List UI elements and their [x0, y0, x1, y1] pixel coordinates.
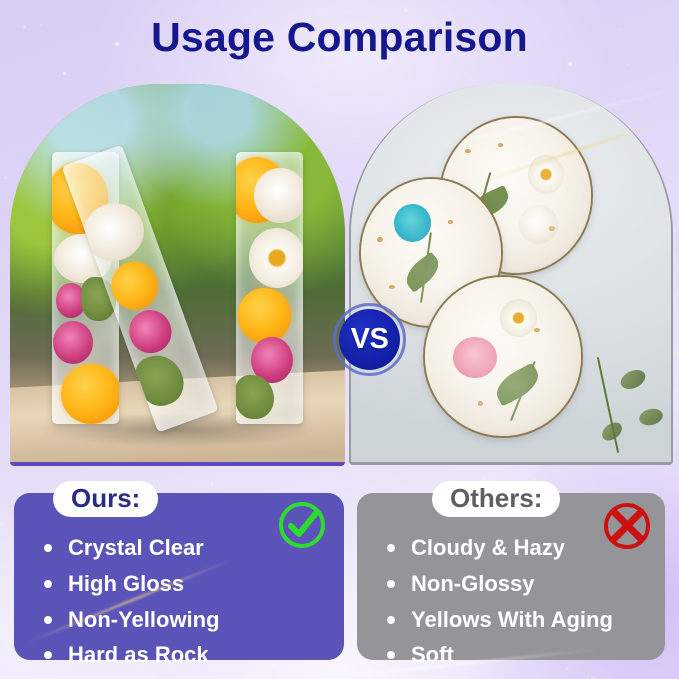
feature-label: Non-Glossy — [411, 569, 534, 600]
letter-stroke-right — [236, 152, 303, 424]
others-card: Others: Cloudy & HazyNon-GlossyYellows W… — [357, 493, 665, 660]
feature-label: Cloudy & Hazy — [411, 533, 565, 564]
sparkle-dot — [319, 11, 320, 12]
resin-letter-scene — [10, 84, 345, 462]
sparkle-dot — [650, 9, 651, 10]
bullet-dot — [387, 616, 395, 624]
page-title: Usage Comparison — [0, 14, 679, 61]
feature-item: Crystal Clear — [36, 533, 334, 564]
ours-heading: Ours: — [53, 481, 158, 517]
pink-flower — [453, 337, 497, 378]
vs-circle: VS — [339, 309, 400, 370]
sparkle-dot — [676, 352, 679, 355]
feature-item: Non-Glossy — [379, 569, 655, 600]
feature-label: Non-Yellowing — [68, 605, 220, 636]
bullet-dot — [44, 651, 52, 659]
feature-item: Non-Yellowing — [36, 605, 334, 636]
others-product-photo — [349, 84, 673, 465]
feature-item: Hard as Rock — [36, 640, 334, 671]
feature-label: Yellows With Aging — [411, 605, 613, 636]
photo-comparison-row — [10, 84, 669, 462]
resin-letter-n — [44, 152, 312, 424]
bullet-dot — [387, 580, 395, 588]
others-heading: Others: — [432, 481, 560, 517]
feature-label: Soft — [411, 640, 454, 671]
comparison-infographic: Usage Comparison — [0, 0, 679, 679]
coaster-bottom — [425, 277, 582, 436]
vs-badge: VS — [333, 303, 406, 376]
bullet-dot — [44, 580, 52, 588]
feature-label: High Gloss — [68, 569, 184, 600]
feature-label: Hard as Rock — [68, 640, 209, 671]
blue-flower — [394, 204, 431, 242]
feature-item: Yellows With Aging — [379, 605, 655, 636]
bullet-dot — [387, 544, 395, 552]
sparkle-dot — [11, 527, 12, 528]
sparkle-dot — [12, 612, 13, 613]
resin-coaster-scene — [351, 84, 671, 462]
feature-item: High Gloss — [36, 569, 334, 600]
bullet-dot — [44, 544, 52, 552]
sparkle-dot — [533, 478, 535, 480]
feature-item: Cloudy & Hazy — [379, 533, 655, 564]
ours-product-photo — [10, 84, 345, 466]
sparkle-dot — [266, 487, 268, 489]
sparkle-dot — [627, 64, 629, 66]
sparkle-dot — [404, 8, 407, 11]
bullet-dot — [387, 651, 395, 659]
bullet-dot — [44, 616, 52, 624]
ours-card: Ours: Crystal ClearHigh GlossNon-Yellowi… — [14, 493, 344, 660]
feature-item: Soft — [379, 640, 655, 671]
ours-feature-list: Crystal ClearHigh GlossNon-YellowingHard… — [36, 533, 334, 676]
feature-label: Crystal Clear — [68, 533, 204, 564]
others-feature-list: Cloudy & HazyNon-GlossyYellows With Agin… — [379, 533, 655, 676]
vs-label: VS — [351, 325, 389, 354]
